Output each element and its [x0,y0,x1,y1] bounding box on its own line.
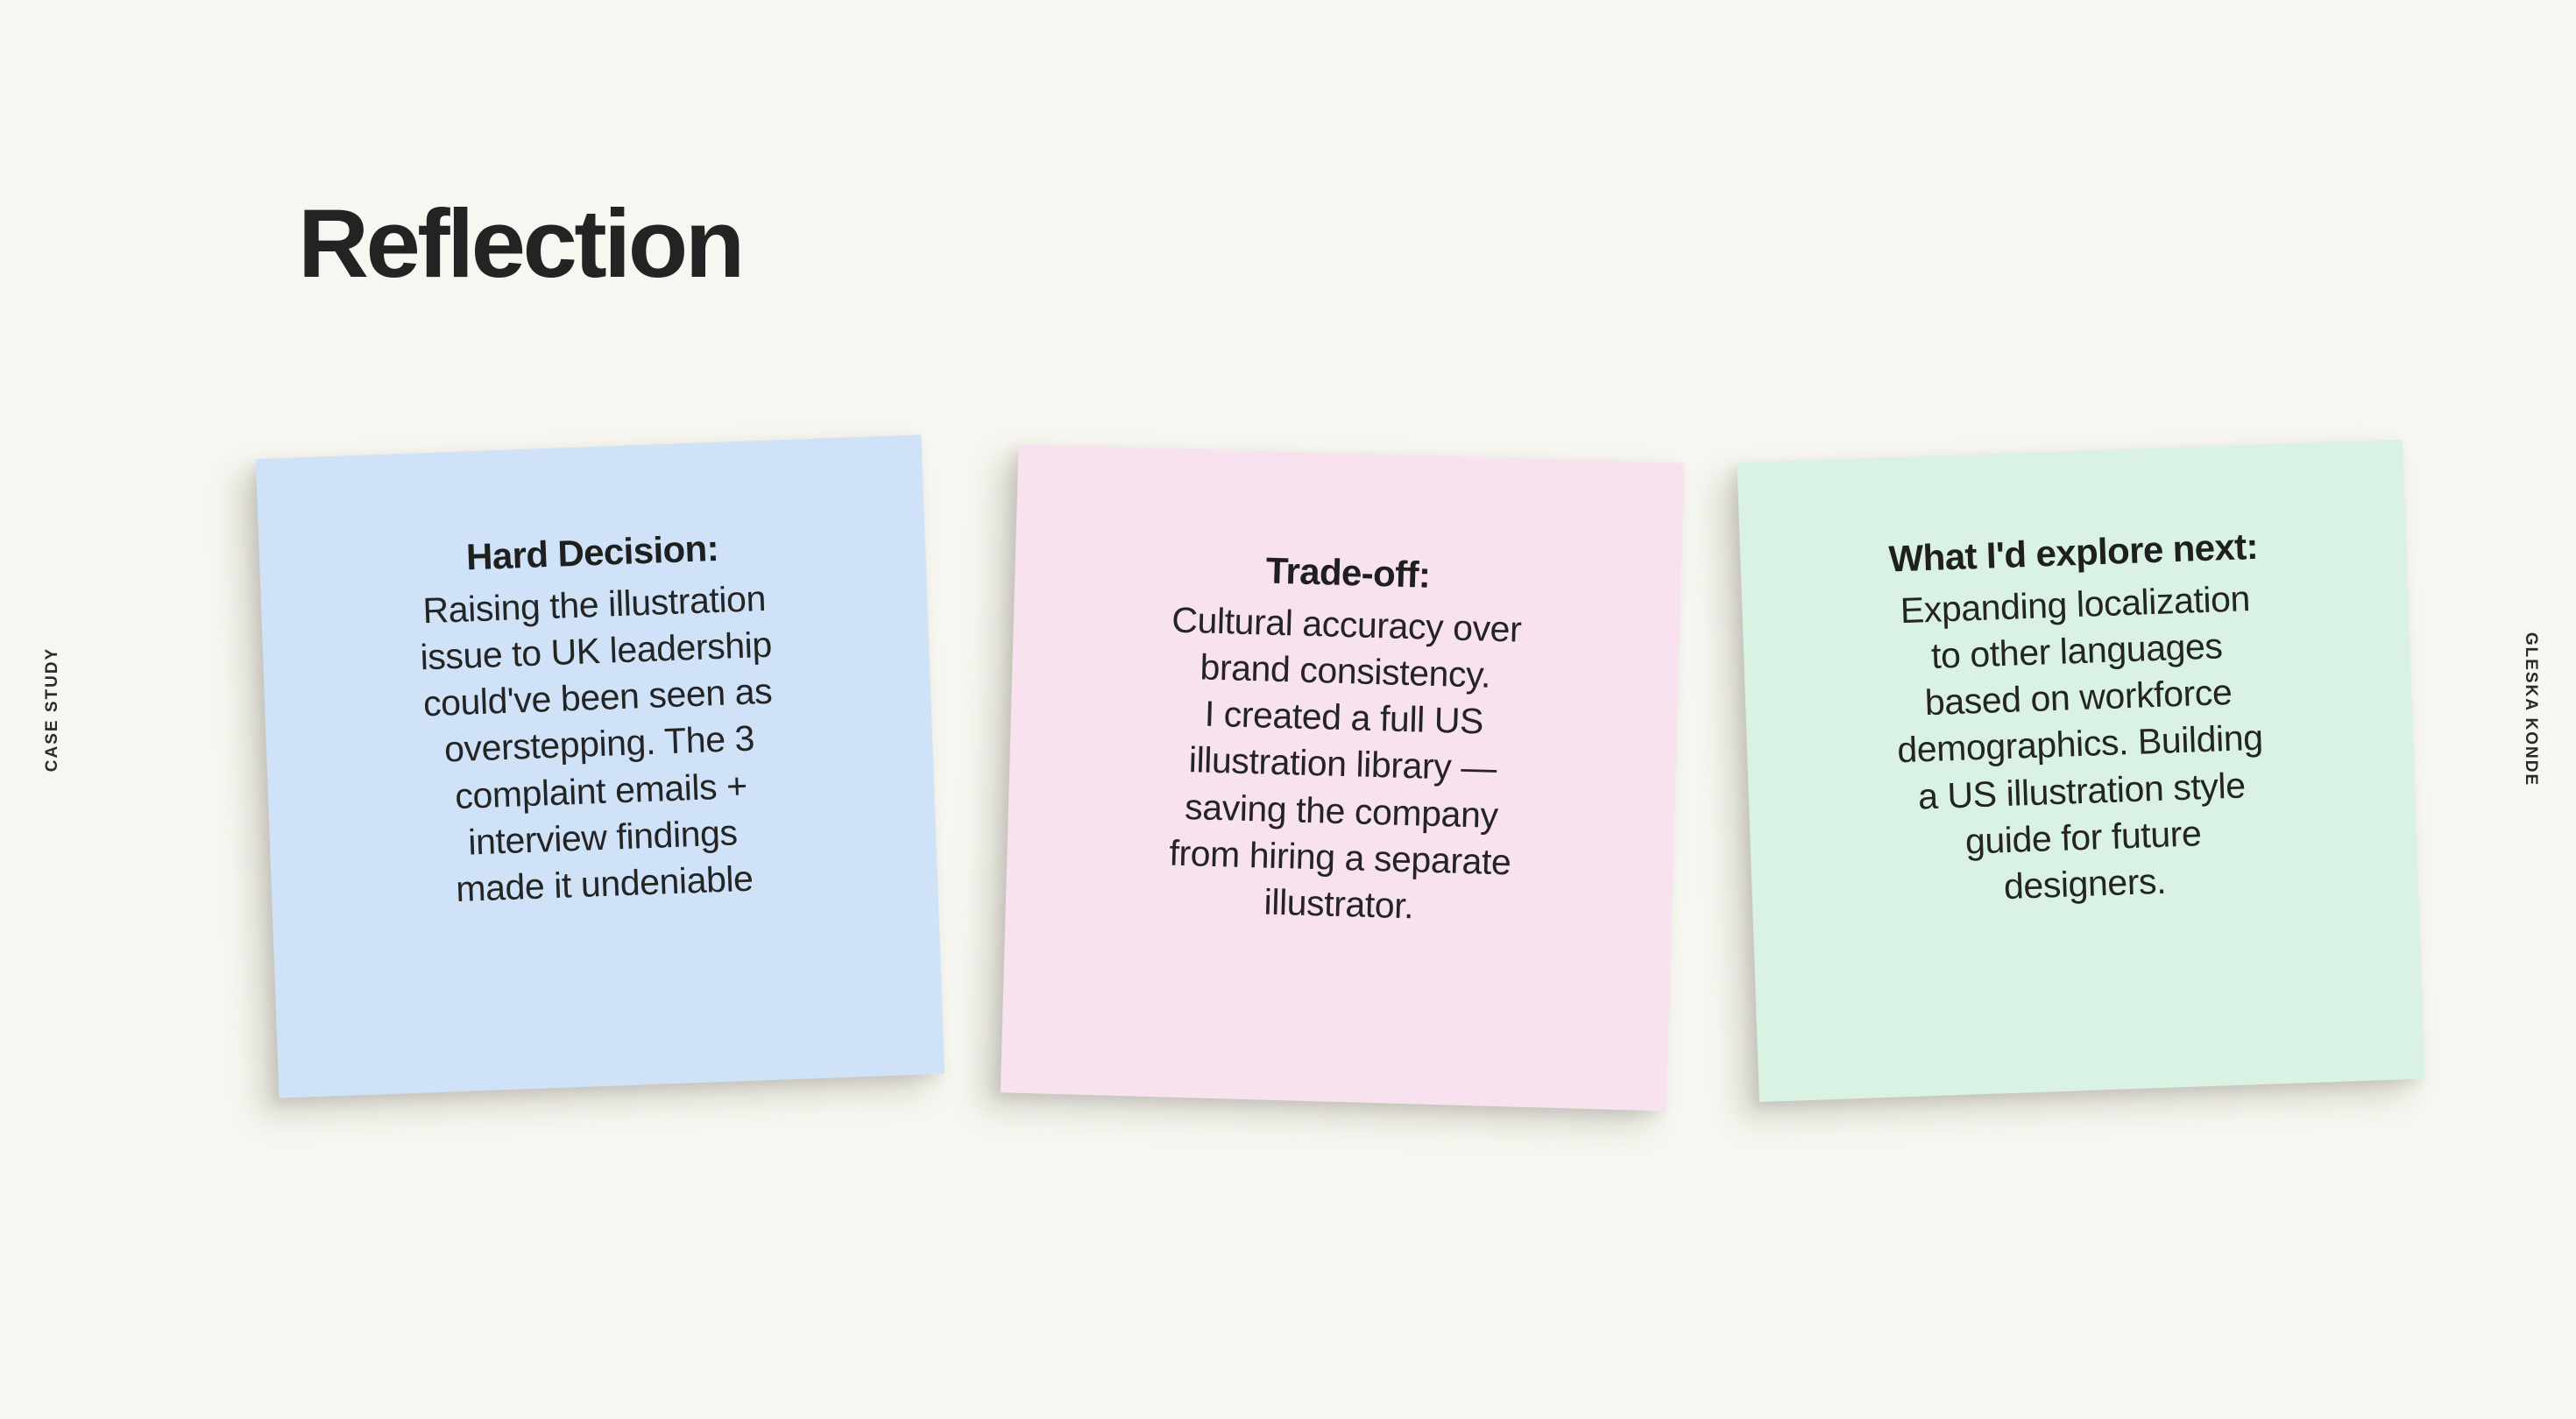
sticky-note-body: Cultural accuracy over brand consistency… [1164,597,1522,933]
sticky-note-body: Expanding localization to other language… [1892,575,2268,914]
sticky-note-explore-next[interactable]: What I'd explore next: Expanding localiz… [1737,440,2424,1102]
sticky-note-body: Raising the illustration issue to UK lea… [418,575,782,914]
sticky-note-title: Hard Decision: [465,526,719,581]
sticky-note-trade-off[interactable]: Trade-off: Cultural accuracy over brand … [1001,445,1684,1112]
reflection-slide: Reflection CASE STUDY GLESKA KONDE Hard … [0,0,2576,1419]
sticky-note-title: What I'd explore next: [1888,524,2259,582]
sticky-note-hard-decision[interactable]: Hard Decision: Raising the illustration … [256,434,945,1098]
sticky-notes-layer: Hard Decision: Raising the illustration … [0,0,2576,1419]
sticky-note-title: Trade-off: [1265,547,1431,598]
